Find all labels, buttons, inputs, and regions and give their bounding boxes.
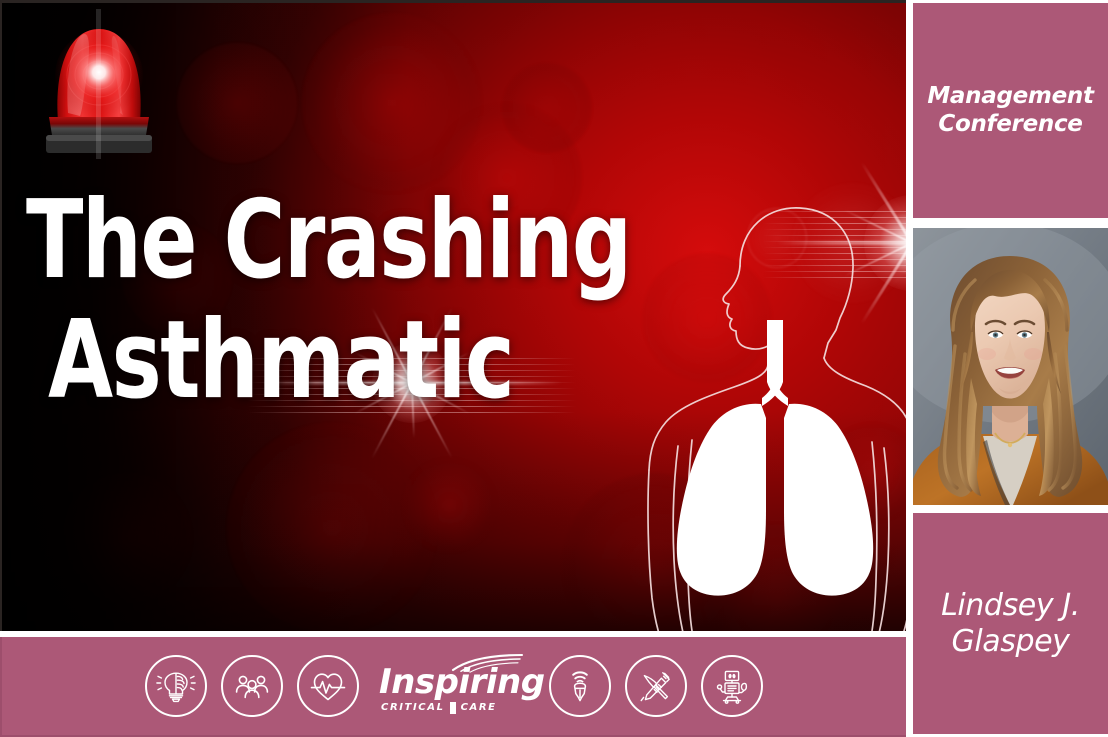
speaker-name-line-1: Lindsey J. [941, 588, 1080, 624]
logo-tagline-separator [450, 702, 456, 714]
logo-tagline-left: CRITICAL [381, 702, 445, 713]
lightbulb-brain-icon [145, 655, 207, 717]
people-group-icon [221, 655, 283, 717]
ventilator-monitor-icon [701, 655, 763, 717]
presentation-title-slide: The Crashing Asthmatic [0, 0, 1108, 737]
conference-label-panel: Management Conference [913, 3, 1108, 218]
conference-line-1: Management [927, 83, 1093, 110]
title-line-2: Asthmatic [48, 309, 561, 413]
conference-line-2: Conference [938, 111, 1082, 138]
slide-title: The Crashing Asthmatic [26, 189, 706, 412]
speaker-name: Lindsey J. Glaspey [935, 588, 1086, 660]
logo-tagline: CRITICAL CARE [381, 702, 529, 714]
title-line-1: The Crashing [26, 189, 556, 293]
right-sidebar: Management Conference [913, 0, 1108, 737]
logo-tagline-right: CARE [461, 702, 497, 713]
speaker-portrait [913, 228, 1108, 505]
inspiring-critical-care-logo: Inspiring CRITICAL CARE [379, 654, 529, 718]
branding-icon-bar: Inspiring CRITICAL CARE [0, 637, 906, 737]
logo-swoosh-icon [451, 653, 525, 673]
heart-ecg-icon [297, 655, 359, 717]
speaker-name-line-2: Glaspey [941, 624, 1080, 660]
ultrasound-probe-icon [549, 655, 611, 717]
scalpel-syringe-icon [625, 655, 687, 717]
speaker-name-panel: Lindsey J. Glaspey [913, 513, 1108, 734]
hero-panel: The Crashing Asthmatic [0, 0, 906, 631]
emergency-beacon-icon [24, 9, 174, 159]
